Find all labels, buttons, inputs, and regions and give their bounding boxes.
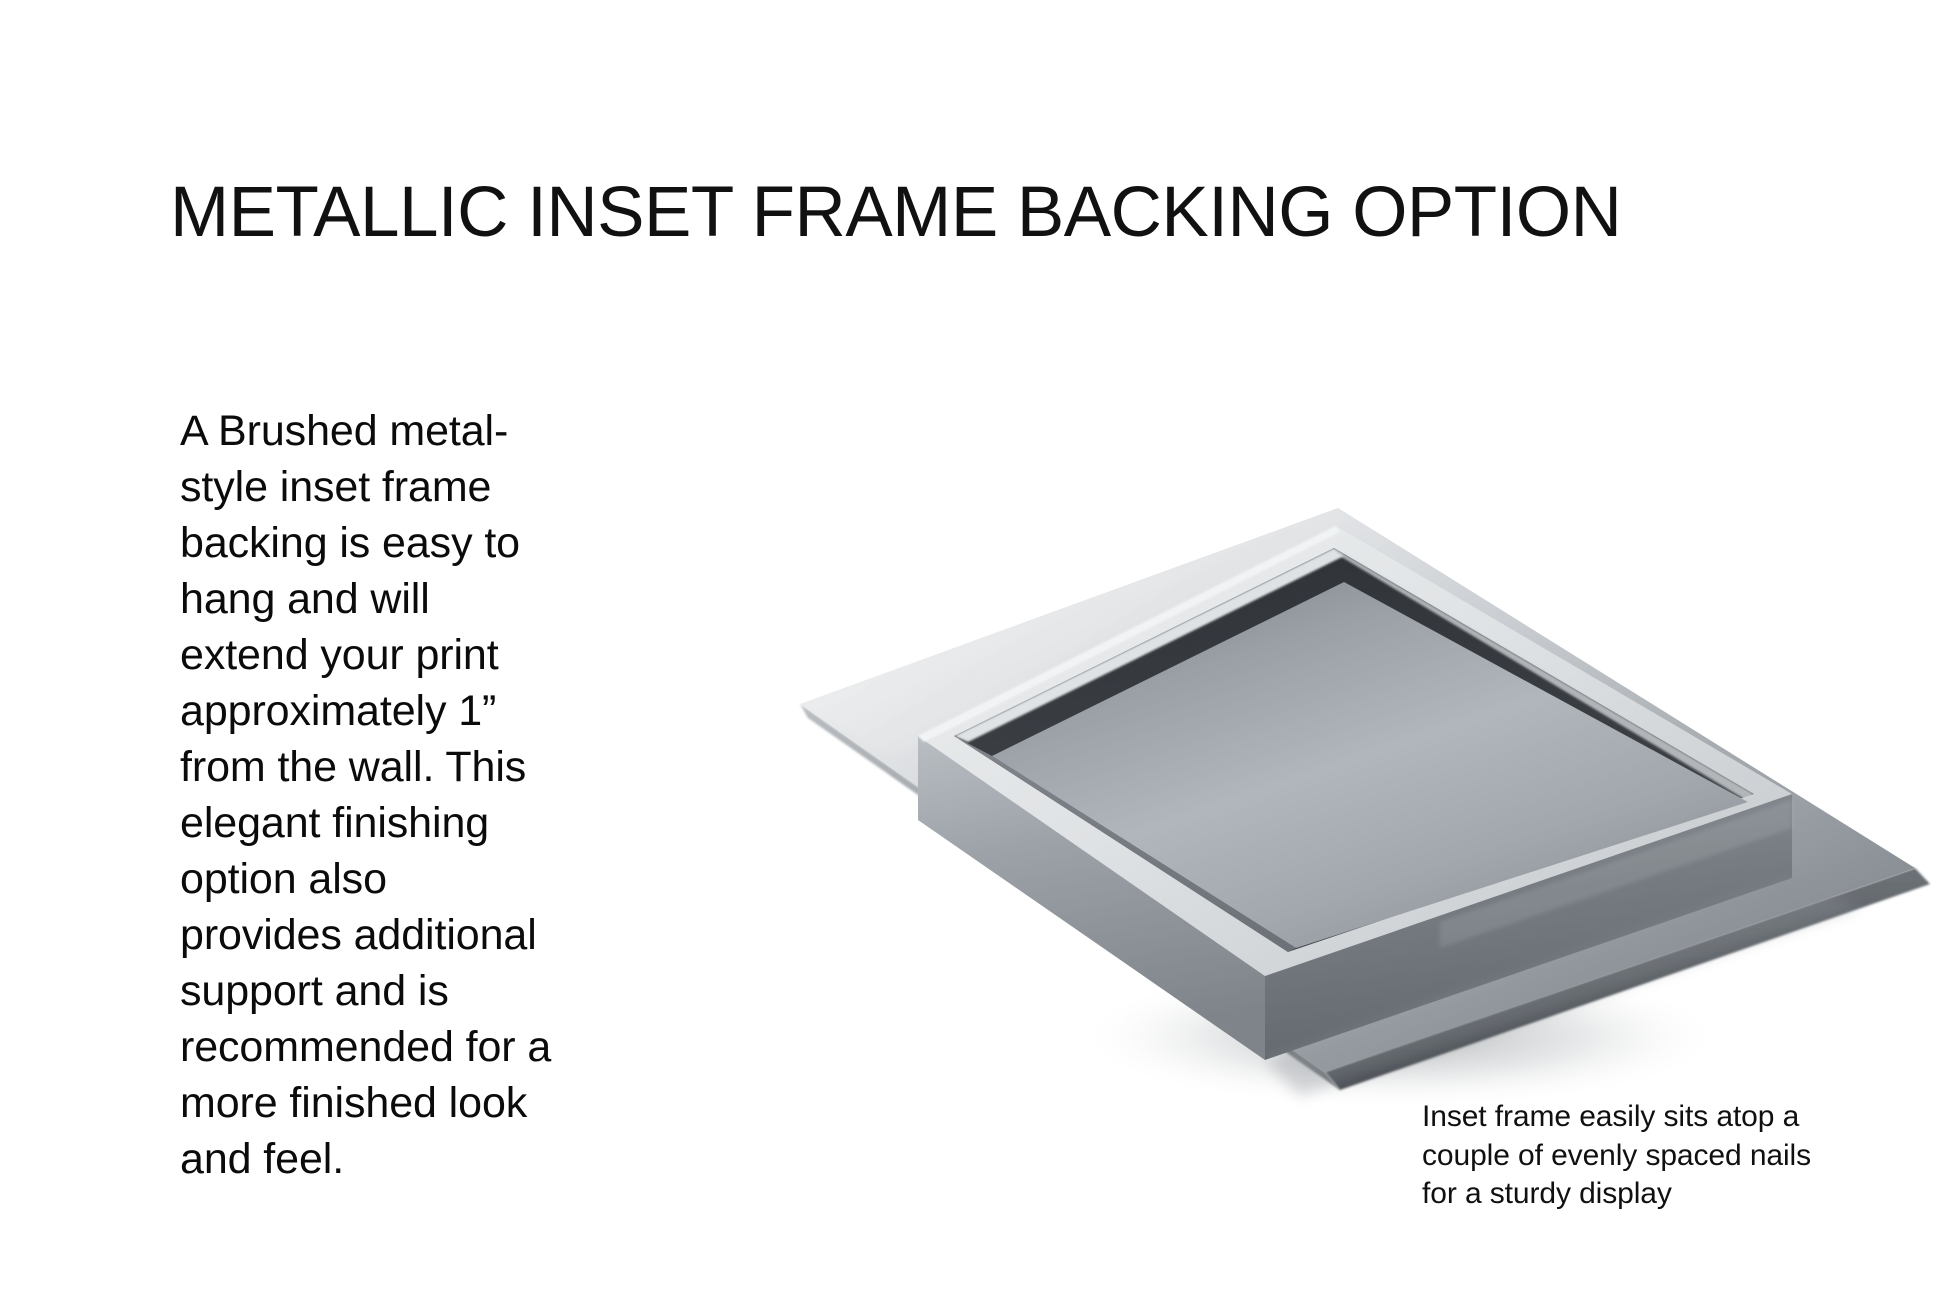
product-photo [740, 436, 1940, 1116]
inset-frame-illustration [740, 436, 1940, 1116]
photo-caption: Inset frame easily sits atop a couple of… [1422, 1098, 1842, 1214]
description-paragraph: A Brushed metal-style inset frame backin… [180, 403, 552, 1187]
page-title: METALLIC INSET FRAME BACKING OPTION [170, 174, 1621, 252]
